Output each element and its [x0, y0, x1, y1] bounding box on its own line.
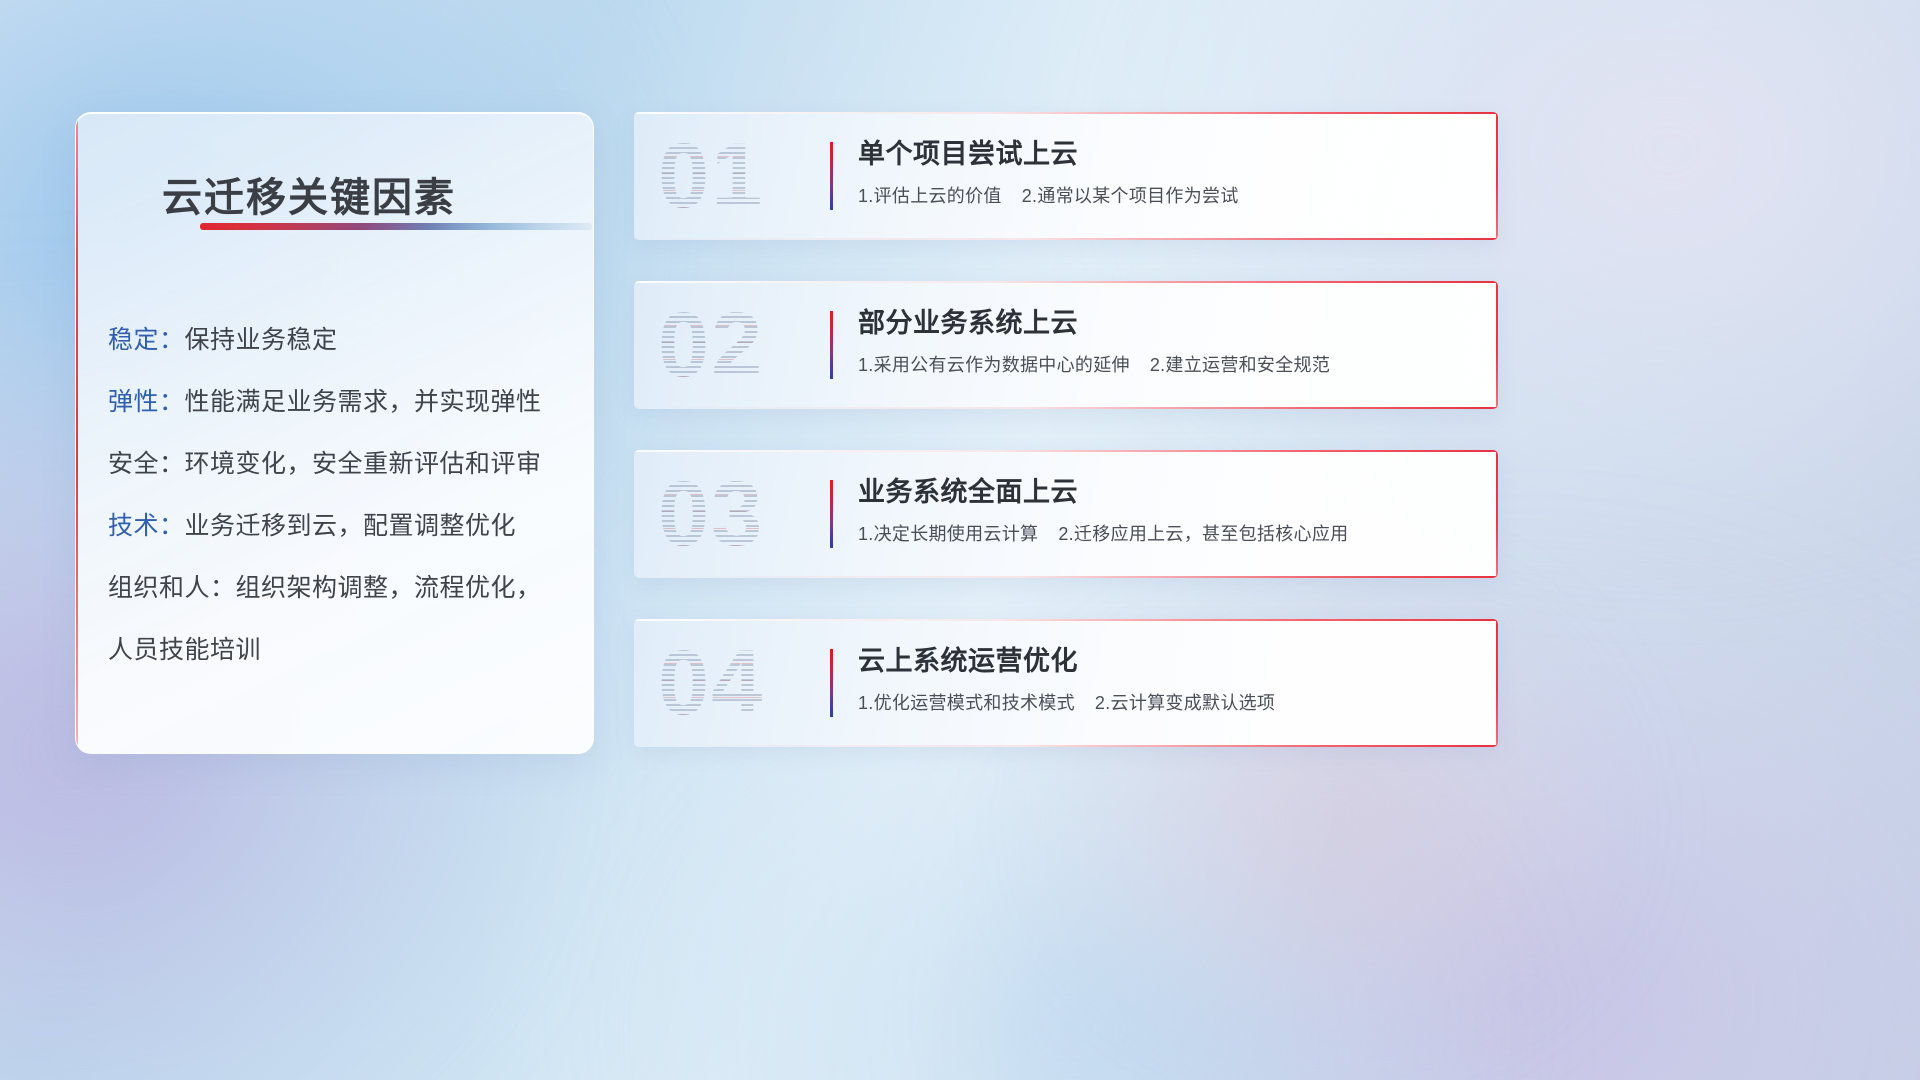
card-top-accent [634, 619, 1498, 621]
key-factor-label: 组织和人： [108, 574, 236, 602]
step-title: 单个项目尝试上云 [858, 134, 1470, 174]
migration-step-card[interactable]: 0202部分业务系统上云1.采用公有云作为数据中心的延伸2.建立运营和安全规范 [634, 281, 1498, 409]
step-subtitle: 1.采用公有云作为数据中心的延伸2.建立运营和安全规范 [858, 352, 1470, 378]
step-point-2: 2.迁移应用上云，甚至包括核心应用 [1058, 524, 1348, 544]
step-accent-bar [830, 649, 833, 717]
key-factor-label: 技术： [108, 512, 185, 540]
card-top-accent [634, 281, 1498, 283]
card-top-accent [634, 112, 1498, 114]
card-bottom-accent [634, 745, 1498, 747]
card-bottom-accent [634, 238, 1498, 240]
key-factor-item: 稳定：保持业务稳定 [108, 309, 569, 371]
migration-steps-list: 0101单个项目尝试上云1.评估上云的价值2.通常以某个项目作为尝试0202部分… [634, 112, 1498, 788]
title-underline [200, 223, 592, 230]
card-right-accent [1496, 450, 1498, 578]
step-subtitle: 1.评估上云的价值2.通常以某个项目作为尝试 [858, 183, 1470, 209]
step-point-2: 2.通常以某个项目作为尝试 [1022, 186, 1239, 206]
key-factor-value: 人员技能培训 [108, 636, 261, 664]
card-right-accent [1496, 112, 1498, 240]
panel-left-accent-bar [76, 113, 78, 753]
step-body: 部分业务系统上云1.采用公有云作为数据中心的延伸2.建立运营和安全规范 [858, 303, 1470, 378]
page-title: 云迁移关键因素 [162, 165, 456, 223]
key-factor-label: 稳定： [108, 326, 185, 354]
key-factors-list: 稳定：保持业务稳定弹性：性能满足业务需求，并实现弹性安全：环境变化，安全重新评估… [108, 309, 569, 681]
step-number-watermark: 01 [658, 122, 848, 230]
card-top-accent [634, 450, 1498, 452]
key-factor-value: 组织架构调整，流程优化， [236, 574, 542, 602]
step-point-1: 1.采用公有云作为数据中心的延伸 [858, 355, 1130, 375]
key-factor-value: 业务迁移到云，配置调整优化 [185, 512, 517, 540]
step-title: 云上系统运营优化 [858, 641, 1470, 681]
card-bottom-accent [634, 576, 1498, 578]
key-factor-item: 人员技能培训 [108, 619, 569, 681]
card-right-accent [1496, 281, 1498, 409]
key-factor-item: 安全：环境变化，安全重新评估和评审 [108, 433, 569, 495]
step-body: 业务系统全面上云1.决定长期使用云计算2.迁移应用上云，甚至包括核心应用 [858, 472, 1470, 547]
key-factors-panel: 云迁移关键因素 稳定：保持业务稳定弹性：性能满足业务需求，并实现弹性安全：环境变… [75, 112, 594, 754]
step-subtitle: 1.优化运营模式和技术模式2.云计算变成默认选项 [858, 690, 1470, 716]
step-accent-bar [830, 480, 833, 548]
key-factor-label: 安全： [108, 450, 185, 478]
step-point-1: 1.决定长期使用云计算 [858, 524, 1038, 544]
key-factor-item: 技术：业务迁移到云，配置调整优化 [108, 495, 569, 557]
card-bottom-accent [634, 407, 1498, 409]
step-number-watermark: 04 [658, 629, 848, 737]
step-number-watermark: 03 [658, 460, 848, 568]
key-factor-value: 保持业务稳定 [185, 326, 338, 354]
key-factor-item: 组织和人：组织架构调整，流程优化， [108, 557, 569, 619]
step-accent-bar [830, 142, 833, 210]
step-body: 云上系统运营优化1.优化运营模式和技术模式2.云计算变成默认选项 [858, 641, 1470, 716]
card-right-accent [1496, 619, 1498, 747]
migration-step-card[interactable]: 0404云上系统运营优化1.优化运营模式和技术模式2.云计算变成默认选项 [634, 619, 1498, 747]
key-factor-item: 弹性：性能满足业务需求，并实现弹性 [108, 371, 569, 433]
step-number-watermark: 02 [658, 291, 848, 399]
step-body: 单个项目尝试上云1.评估上云的价值2.通常以某个项目作为尝试 [858, 134, 1470, 209]
key-factor-value: 环境变化，安全重新评估和评审 [185, 450, 542, 478]
step-accent-bar [830, 311, 833, 379]
step-subtitle: 1.决定长期使用云计算2.迁移应用上云，甚至包括核心应用 [858, 521, 1470, 547]
step-title: 业务系统全面上云 [858, 472, 1470, 512]
key-factor-value: 性能满足业务需求，并实现弹性 [185, 388, 542, 416]
key-factor-label: 弹性： [108, 388, 185, 416]
step-point-2: 2.建立运营和安全规范 [1150, 355, 1330, 375]
step-point-2: 2.云计算变成默认选项 [1095, 693, 1275, 713]
step-title: 部分业务系统上云 [858, 303, 1470, 343]
migration-step-card[interactable]: 0101单个项目尝试上云1.评估上云的价值2.通常以某个项目作为尝试 [634, 112, 1498, 240]
slide-stage: 云迁移关键因素 稳定：保持业务稳定弹性：性能满足业务需求，并实现弹性安全：环境变… [0, 0, 1920, 1080]
step-point-1: 1.优化运营模式和技术模式 [858, 693, 1075, 713]
migration-step-card[interactable]: 0303业务系统全面上云1.决定长期使用云计算2.迁移应用上云，甚至包括核心应用 [634, 450, 1498, 578]
step-point-1: 1.评估上云的价值 [858, 186, 1002, 206]
